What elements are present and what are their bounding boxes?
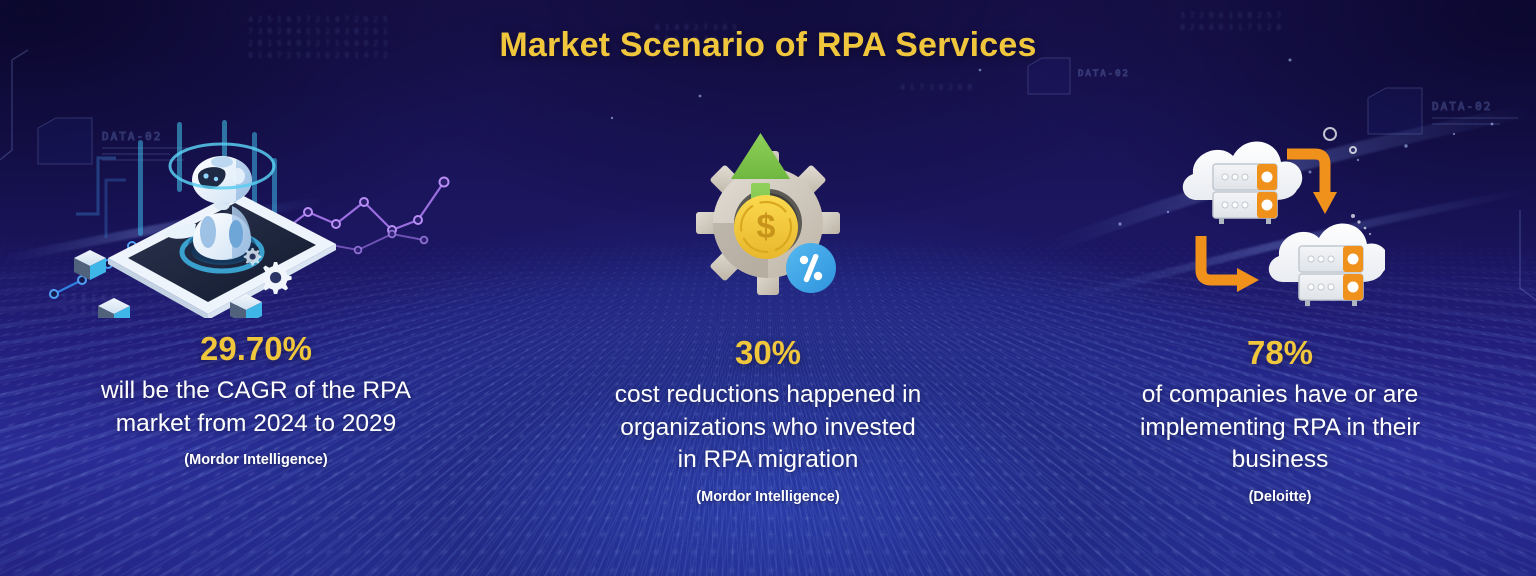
- stat-column-cost-reduction: $ 30% cost reductions happened in organi…: [512, 118, 1024, 505]
- stat-value: 78%: [1247, 336, 1313, 369]
- cloud-server-migration-icon: [1175, 118, 1385, 318]
- svg-text:$: $: [757, 208, 776, 246]
- gear-dollar-growth-icon: $: [678, 118, 858, 318]
- stat-source: (Mordor Intelligence): [696, 489, 839, 505]
- stat-description: will be the CAGR of the RPA market from …: [101, 375, 411, 440]
- svg-text:4 1 7 3 9 2 6 8: 4 1 7 3 9 2 6 8: [900, 83, 972, 92]
- svg-text:4 2 5 1 6 3 7 2 1 4 7 2 6 2 5: 4 2 5 1 6 3 7 2 1 4 7 2 6 2 5: [248, 15, 388, 24]
- stat-source: (Deloitte): [1249, 489, 1312, 505]
- svg-text:3 7 2 9 4 1 6 8 2 5 7: 3 7 2 9 4 1 6 8 2 5 7: [1180, 11, 1281, 20]
- stat-source: (Mordor Intelligence): [184, 452, 327, 468]
- svg-text:DATA-02: DATA-02: [1432, 100, 1492, 113]
- stat-column-adoption: 78% of companies have or are implementin…: [1024, 118, 1536, 505]
- page-title: Market Scenario of RPA Services: [0, 26, 1536, 65]
- stat-value: 30%: [735, 336, 801, 369]
- stat-description: cost reductions happened in organization…: [615, 379, 921, 477]
- stat-value: 29.70%: [200, 332, 312, 365]
- infographic-banner: DATA-02 DATA-02 DATA-02 4 2 5 1 6 3 7 2 …: [0, 0, 1536, 576]
- stat-column-cagr: 29.70% will be the CAGR of the RPA marke…: [0, 118, 512, 468]
- stat-description: of companies have or are implementing RP…: [1140, 379, 1420, 477]
- stats-row: 29.70% will be the CAGR of the RPA marke…: [0, 118, 1536, 505]
- svg-text:DATA-02: DATA-02: [1078, 69, 1130, 79]
- robot-on-smartphone-illustration: [46, 118, 466, 318]
